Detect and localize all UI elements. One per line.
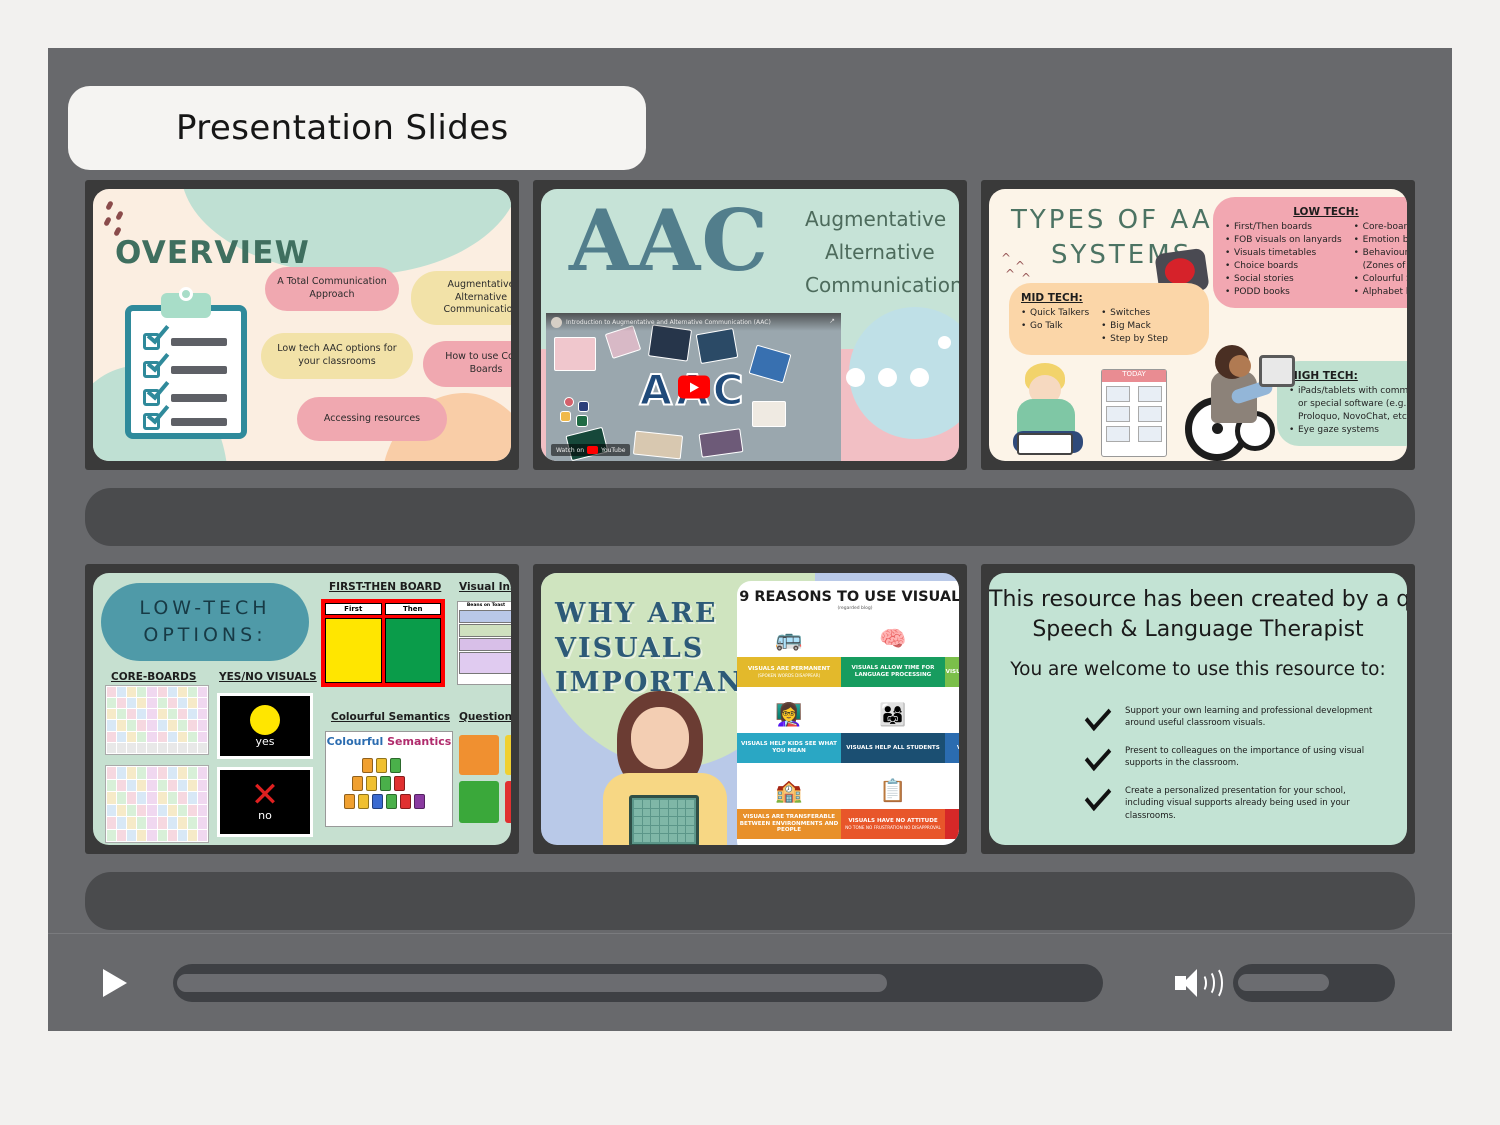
slide-low-tech-options: LOW-TECH OPTIONS: CORE-BOARDS YES/NO VIS…: [93, 573, 511, 845]
decor-dot-3: [910, 368, 929, 387]
check-icon: [1085, 781, 1111, 811]
low-tech-list-col2: Core-boards Emotion boards Behaviour sup…: [1354, 221, 1407, 299]
slide-subtitle: Augmentative Alternative Communication: [805, 203, 959, 302]
volume-slider-thumb[interactable]: [1238, 974, 1329, 991]
title-line-2: OPTIONS:: [143, 622, 266, 649]
mid-tech-list-col1: Quick Talkers Go Talk: [1021, 307, 1089, 346]
students-icon: 👨‍👩‍👧: [841, 697, 945, 733]
list-item: Create a personalized presentation for y…: [1085, 785, 1385, 822]
page-title-pill: Presentation Slides: [68, 86, 646, 170]
slide-types-of-aac: TYPES OF AAC SYSTEMS ^ ^ ^ ^ LOW TECH:: [989, 189, 1407, 461]
yes-visual-card: yes: [217, 693, 313, 759]
infographic-row-1: 🚌 VISUALS ARE PERMANENT (SPOKEN WORDS DI…: [737, 621, 959, 687]
subtitle-line-3: Communication: [805, 269, 959, 302]
heading-line-1: This resource has been created by a qual…: [989, 585, 1407, 615]
placeholder-bar: [85, 488, 1415, 546]
subtitle-line-1: Augmentative: [805, 203, 959, 236]
overview-pill-3: Low tech AAC options for your classrooms: [261, 333, 413, 379]
low-tech-heading: LOW TECH:: [1225, 206, 1407, 218]
infographic-row-2: 👩‍🏫 VISUALS HELP KIDS SEE WHAT YOU MEAN …: [737, 697, 959, 763]
list-item: Present to colleagues on the importance …: [1085, 745, 1385, 770]
video-top-bar: Introduction to Augmentative and Alterna…: [546, 313, 841, 331]
woman-holding-board-illustration: [597, 685, 747, 845]
nine-reasons-infographic: 9 REASONS TO USE VISUALS (regarded blog)…: [737, 581, 959, 845]
question-card-1: [459, 735, 499, 775]
slide-aac-title: AAC Augmentative Alternative Communicati…: [541, 189, 959, 461]
reason-5: VISUALS HELP ALL STUDENTS: [841, 733, 945, 763]
mid-tech-list-col2: Switches Big Mack Step by Step: [1101, 307, 1168, 346]
question-card-4: [505, 781, 511, 823]
slide-row-spacer-1: [48, 470, 1452, 546]
no-label: no: [258, 809, 272, 822]
core-board-image-2: [105, 765, 209, 843]
play-icon[interactable]: [103, 969, 127, 997]
yes-label: yes: [255, 735, 274, 748]
check-icon: [1085, 701, 1111, 731]
list-item: Alphabet boards: [1354, 286, 1407, 299]
high-tech-heading: HIGH TECH:: [1289, 370, 1407, 382]
list-item: Core-boards: [1354, 221, 1407, 234]
reason-6: V: [945, 733, 959, 763]
list-item: First/Then boards: [1225, 221, 1342, 234]
list-item: iPads/tablets with communication apps: [1289, 385, 1407, 398]
provider-label: YouTube: [601, 447, 625, 454]
first-then-board: First Then: [321, 599, 445, 687]
reason-7: VISUALS ARE TRANSFERABLE BETWEEN ENVIRON…: [737, 809, 841, 839]
watch-on-label: Watch on: [556, 447, 584, 454]
credit-bullet-list: Support your own learning and profession…: [1085, 705, 1385, 837]
volume-icon[interactable]: [1175, 965, 1219, 1001]
heading-visual-instructions: Visual Instructions: [459, 581, 511, 593]
slide-title: LOW-TECH OPTIONS:: [101, 583, 309, 661]
visual-instruction-card: Beans on Toast: [457, 601, 511, 685]
youtube-logo-icon: [587, 446, 598, 454]
heading-first-then-board: FIRST-THEN BOARD: [329, 581, 441, 593]
list-item: PODD books: [1225, 286, 1342, 299]
slide-thumbnail-resource-credit[interactable]: This resource has been created by a qual…: [981, 564, 1415, 854]
decor-specks: [103, 197, 143, 237]
slide-thumbnail-low-tech-options[interactable]: LOW-TECH OPTIONS: CORE-BOARDS YES/NO VIS…: [85, 564, 519, 854]
list-item: Big Mack: [1101, 320, 1168, 333]
youtube-video-embed[interactable]: AAC Introduction to Augmentative and Alt…: [546, 313, 841, 461]
slide-thumbnail-why-visuals[interactable]: WHY ARE VISUALS IMPORTANT?: [533, 564, 967, 854]
title-line-1: LOW-TECH: [139, 595, 270, 622]
child-reading-illustration: [1003, 359, 1095, 459]
overview-pill-1: A Total Communication Approach: [265, 267, 399, 311]
today-label: TODAY: [1102, 370, 1166, 382]
progress-scrollbar[interactable]: [173, 964, 1103, 1002]
channel-avatar: [551, 317, 562, 328]
slide-row-2: LOW-TECH OPTIONS: CORE-BOARDS YES/NO VIS…: [48, 564, 1452, 854]
slide-title: AAC: [569, 201, 769, 281]
then-label: Then: [385, 603, 442, 615]
reason-9: [945, 809, 959, 839]
overview-pill-5: Accessing resources: [297, 397, 447, 441]
heading-yes-no-visuals: YES/NO VISUALS: [219, 671, 317, 683]
brain-icon: 🧠: [841, 621, 945, 657]
clipboard-icon: [125, 293, 247, 439]
school-home-icon: 🏫: [737, 773, 841, 809]
heading-questions: Questions: [459, 711, 511, 723]
high-tech-list: iPads/tablets with communication apps or…: [1289, 385, 1407, 437]
heading-colourful-semantics: Colourful Semantics: [331, 711, 450, 723]
youtube-play-icon[interactable]: [678, 376, 710, 399]
reason-2: VISUALS ALLOW TIME FOR LANGUAGE PROCESSI…: [841, 657, 945, 687]
credit-subheading: You are welcome to use this resource to:: [989, 659, 1407, 680]
volume-slider[interactable]: [1233, 964, 1395, 1002]
overview-pill-4: How to use Core-Boards: [423, 341, 511, 387]
infographic-subtitle: (regarded blog): [737, 606, 959, 611]
list-item: Step by Step: [1101, 333, 1168, 346]
infographic-row-3: 🏫 VISUALS ARE TRANSFERABLE BETWEEN ENVIR…: [737, 773, 959, 839]
reason-4: VISUALS HELP KIDS SEE WHAT YOU MEAN: [737, 733, 841, 763]
slide-thumbnail-aac-title[interactable]: AAC Augmentative Alternative Communicati…: [533, 180, 967, 470]
list-item: Go Talk: [1021, 320, 1089, 333]
list-item: (Zones of regulation): [1354, 260, 1407, 273]
slide-resource-credit: This resource has been created by a qual…: [989, 573, 1407, 845]
check-icon: [1085, 741, 1111, 771]
list-item: or special software (e.g. TouchChat,: [1289, 398, 1407, 411]
list-item: Switches: [1101, 307, 1168, 320]
sun-icon: [250, 705, 280, 735]
cross-icon: ✕: [251, 782, 280, 809]
list-item: FOB visuals on lanyards: [1225, 234, 1342, 247]
scrollbar-thumb[interactable]: [177, 974, 887, 992]
question-card-3: [459, 781, 499, 823]
then-slot: [385, 618, 442, 683]
mid-tech-heading: MID TECH:: [1021, 292, 1197, 304]
slide-why-visuals: WHY ARE VISUALS IMPORTANT?: [541, 573, 959, 845]
overview-pill-2: Augmentative Alternative Communication: [411, 271, 511, 325]
subtitle-line-2: Alternative: [805, 236, 959, 269]
slide-thumbnail-overview[interactable]: OVERVIEW A Total Communication Approach …: [85, 180, 519, 470]
list-item: Support your own learning and profession…: [1085, 705, 1385, 730]
cs-title-part-2: Semantics: [387, 735, 451, 748]
question-card-2: [505, 735, 511, 775]
player-control-bar: [48, 933, 1452, 1031]
list-item: Emotion boards: [1354, 234, 1407, 247]
slide-row-spacer-2: [48, 854, 1452, 930]
slide-overview: OVERVIEW A Total Communication Approach …: [93, 189, 511, 461]
list-item: Behaviour supports: [1354, 247, 1407, 260]
mid-tech-box: MID TECH: Quick Talkers Go Talk Switches…: [1009, 283, 1209, 355]
title-line-1: TYPES OF AAC: [1011, 203, 1233, 238]
no-visual-card: ✕ no: [217, 767, 313, 837]
first-slot: [325, 618, 382, 683]
colourful-semantics-card: Colourful Semantics: [325, 731, 453, 827]
reason-3: VISUALS: [945, 657, 959, 687]
slide-thumbnail-types-of-aac[interactable]: TYPES OF AAC SYSTEMS ^ ^ ^ ^ LOW TECH:: [981, 180, 1415, 470]
first-label: First: [325, 603, 382, 615]
heading-line-2: Speech & Language Therapist: [989, 615, 1407, 645]
list-item: Quick Talkers: [1021, 307, 1089, 320]
share-icon[interactable]: ↗: [829, 317, 835, 325]
reason-8: VISUALS HAVE NO ATTITUDE NO TONE NO FRUS…: [841, 809, 945, 839]
slide-title: OVERVIEW: [115, 235, 310, 271]
slides-area: OVERVIEW A Total Communication Approach …: [48, 180, 1452, 930]
low-tech-box: LOW TECH: First/Then boards FOB visuals …: [1213, 197, 1407, 308]
slide-row-1: OVERVIEW A Total Communication Approach …: [48, 180, 1452, 470]
list-item: Colourful Semantics: [1354, 273, 1407, 286]
checklist-icon: 📋: [841, 773, 945, 809]
visual-card-title: Beans on Toast: [458, 602, 511, 609]
list-item: Eye gaze systems: [1289, 424, 1407, 437]
infographic-title: 9 REASONS TO USE VISUALS: [737, 589, 959, 605]
wheelchair-user-illustration: [1185, 341, 1305, 461]
list-item: Choice boards: [1225, 260, 1342, 273]
credit-heading: This resource has been created by a qual…: [989, 585, 1407, 644]
list-item: Visuals timetables: [1225, 247, 1342, 260]
school-bus-icon: 🚌: [737, 621, 841, 657]
placeholder-bar: [85, 872, 1415, 930]
page-title: Presentation Slides: [176, 108, 509, 148]
low-tech-list-col1: First/Then boards FOB visuals on lanyard…: [1225, 221, 1342, 299]
core-board-image-1: [105, 685, 209, 755]
decor-dot-4: [938, 336, 951, 349]
visual-timetable-illustration: TODAY: [1101, 369, 1167, 457]
cs-title-part-1: Colourful: [327, 735, 384, 748]
watch-on-youtube-button[interactable]: Watch on YouTube: [551, 444, 630, 456]
list-item: Social stories: [1225, 273, 1342, 286]
teacher-icon: 👩‍🏫: [737, 697, 841, 733]
reason-1: VISUALS ARE PERMANENT (SPOKEN WORDS DISA…: [737, 657, 841, 687]
cs-title: Colourful Semantics: [326, 732, 452, 748]
presentation-viewer: Presentation Slides OVERVIEW: [48, 48, 1452, 1031]
video-title: Introduction to Augmentative and Alterna…: [566, 319, 771, 326]
heading-core-boards: CORE-BOARDS: [111, 671, 196, 683]
decor-dot-2: [878, 368, 897, 387]
list-item: Proloquo, NovoChat, etc.).: [1289, 411, 1407, 424]
decor-dot-1: [846, 368, 865, 387]
